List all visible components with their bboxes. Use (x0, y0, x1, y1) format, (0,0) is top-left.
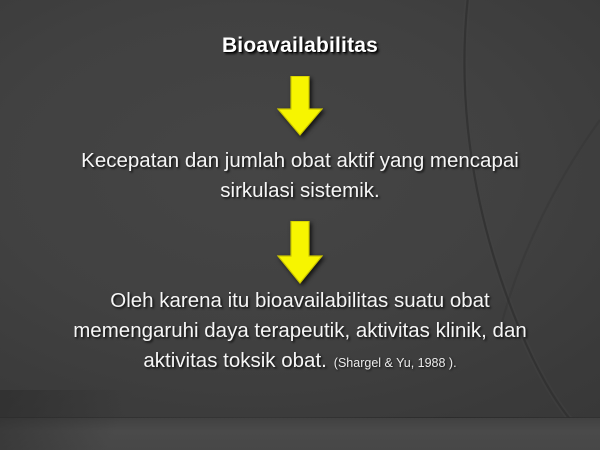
down-arrow-icon (277, 221, 323, 284)
slide-title: Bioavailabilitas (0, 34, 600, 58)
presentation-slide: Bioavailabilitas Kecepatan dan jumlah ob… (0, 0, 600, 450)
implication-line-2: memengaruhi daya terapeutik, aktivitas k… (14, 316, 586, 346)
definition-line-1: Kecepatan dan jumlah obat aktif yang men… (14, 146, 586, 176)
down-arrow-icon (277, 76, 323, 136)
implication-line-3: aktivitas toksik obat. (143, 349, 326, 372)
implication-line-1: Oleh karena itu bioavailabilitas suatu o… (14, 286, 586, 316)
definition-line-2: sirkulasi sistemik. (14, 176, 586, 206)
implication-line-3-wrapper: aktivitas toksik obat. (Shargel & Yu, 19… (14, 346, 586, 378)
implication-text-block: Oleh karena itu bioavailabilitas suatu o… (14, 286, 586, 378)
background-corner-shade (0, 390, 170, 450)
definition-text-block: Kecepatan dan jumlah obat aktif yang men… (14, 146, 586, 206)
source-citation: (Shargel & Yu, 1988 ). (327, 356, 457, 370)
